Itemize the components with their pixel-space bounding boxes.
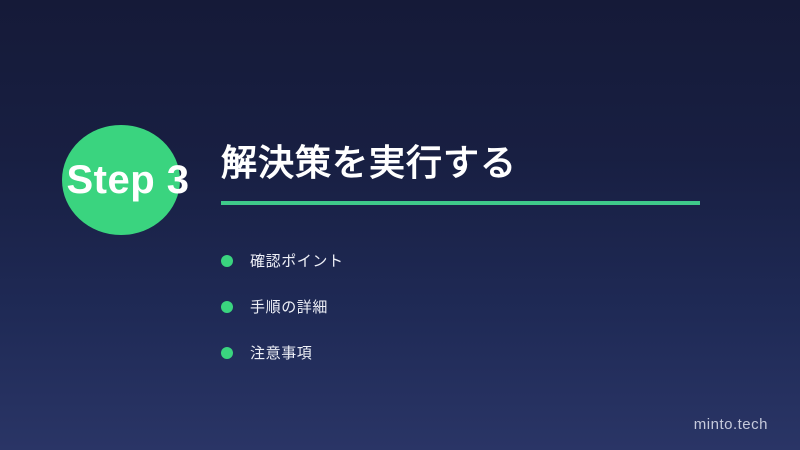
bullet-label: 注意事項 (250, 346, 312, 361)
page-title: 解決策を実行する (221, 140, 701, 185)
bullet-dot-icon (221, 347, 233, 359)
bullet-label: 手順の詳細 (250, 300, 328, 315)
bullet-dot-icon (221, 301, 233, 313)
bullet-dot-icon (221, 255, 233, 267)
list-item: 手順の詳細 (221, 284, 344, 330)
title-block: 解決策を実行する (221, 140, 701, 205)
bullet-label: 確認ポイント (250, 254, 344, 269)
slide-canvas: Step 3 解決策を実行する 確認ポイント 手順の詳細 注意事項 minto.… (0, 0, 800, 450)
step-badge-label: Step 3 (48, 125, 208, 235)
bullet-list: 確認ポイント 手順の詳細 注意事項 (221, 238, 344, 376)
list-item: 注意事項 (221, 330, 344, 376)
title-underline-rule (221, 201, 700, 205)
list-item: 確認ポイント (221, 238, 344, 284)
footer-brand: minto.tech (694, 416, 768, 433)
step-badge: Step 3 (48, 125, 208, 235)
